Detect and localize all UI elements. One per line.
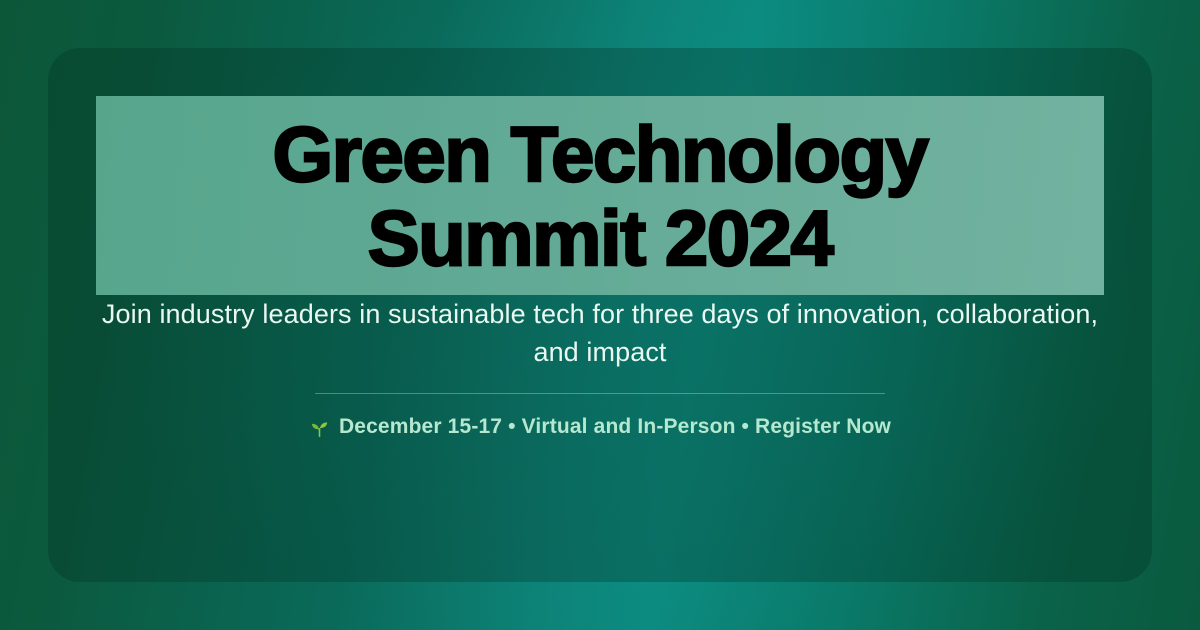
page-title-line-2: Summit 2024 [368, 196, 833, 280]
poster-card: Green Technology Summit 2024 Join indust… [48, 48, 1152, 582]
event-poster: Green Technology Summit 2024 Join indust… [0, 0, 1200, 630]
section-divider [315, 393, 885, 394]
poster-body: Join industry leaders in sustainable tec… [48, 295, 1152, 440]
page-title-line-1: Green Technology [273, 112, 928, 196]
event-details-text: December 15-17 • Virtual and In-Person •… [339, 414, 891, 440]
title-banner: Green Technology Summit 2024 [96, 96, 1104, 295]
event-details-row: December 15-17 • Virtual and In-Person •… [309, 414, 891, 440]
subtitle-text: Join industry leaders in sustainable tec… [96, 295, 1104, 371]
seedling-icon [309, 418, 330, 439]
